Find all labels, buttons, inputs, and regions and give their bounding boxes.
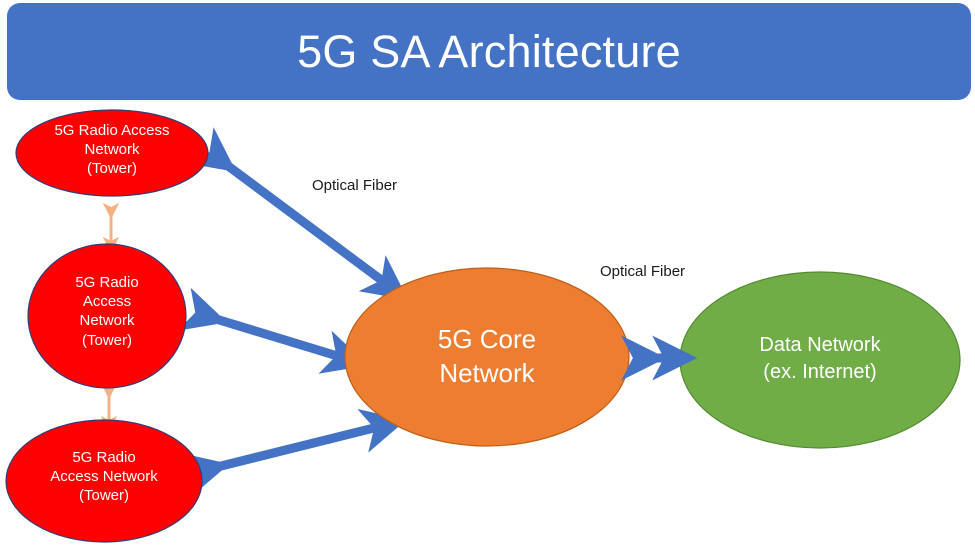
node-ran-bottom[interactable] (6, 420, 202, 542)
node-core-network[interactable] (345, 268, 629, 446)
node-ran-middle[interactable] (28, 244, 186, 388)
connector-ran-bottom-to-core (205, 426, 382, 470)
diagram-shapes-layer (0, 0, 975, 548)
node-data-network[interactable] (680, 272, 960, 448)
diagram-canvas: 5G SA Architecture 5G Ra (0, 0, 975, 548)
node-ran-top[interactable] (16, 110, 208, 196)
edge-label-optical-fiber-top: Optical Fiber (312, 177, 397, 194)
edge-label-optical-fiber-right: Optical Fiber (600, 263, 685, 280)
connector-ran-middle-to-core (203, 315, 344, 358)
